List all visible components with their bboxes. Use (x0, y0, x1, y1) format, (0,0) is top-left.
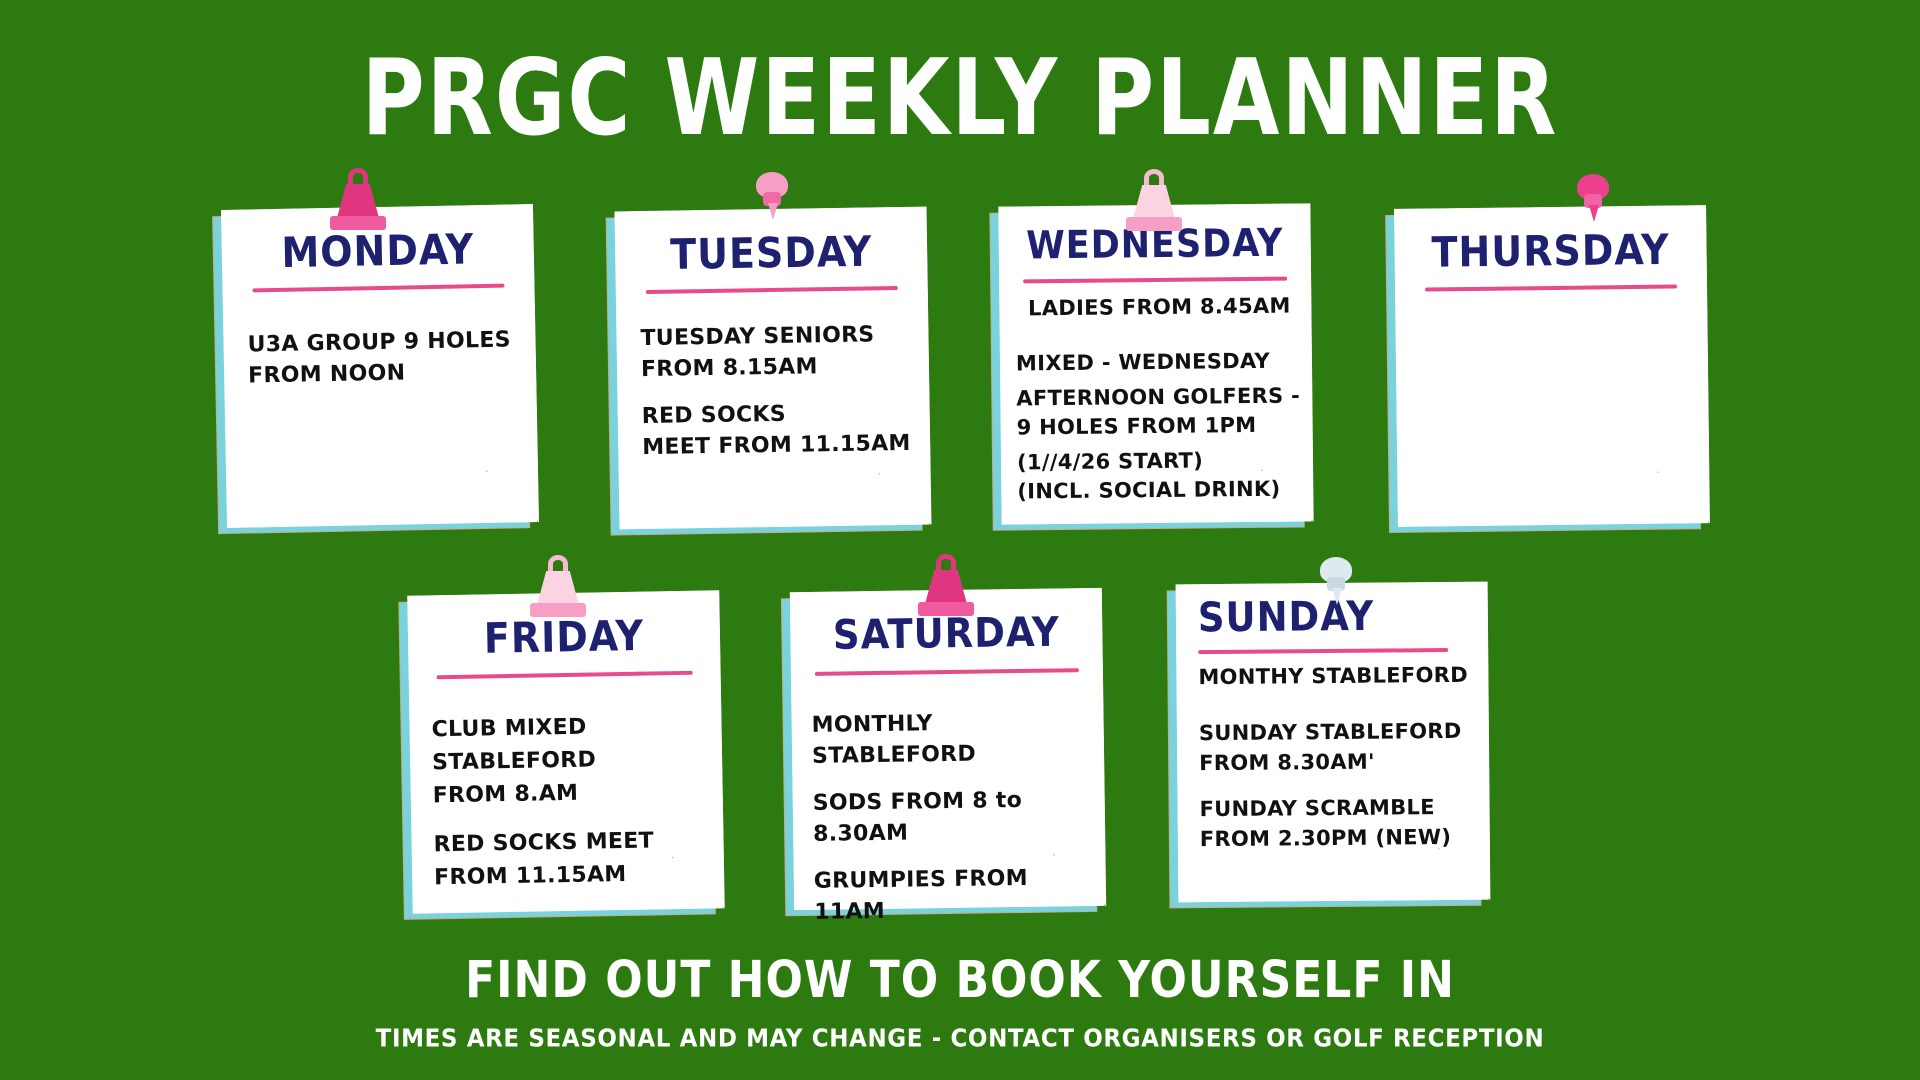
body-line: (1//4/26 START) (1017, 449, 1203, 475)
body-line: FROM 8.15AM (641, 354, 818, 382)
body-line: FROM 11.15AM (434, 862, 627, 890)
pushpin-icon-sunday (1316, 557, 1356, 605)
binder-clip-icon-friday (530, 563, 586, 617)
day-card-friday: FRIDAY CLUB MIXED STABLEFORD FROM 8.AM R… (407, 590, 725, 913)
body-line: GRUMPIES FROM 11AM (814, 866, 1028, 925)
footer-headline: FIND OUT HOW TO BOOK YOURSELF IN (0, 951, 1920, 1010)
body-line: FROM 2.30PM (NEW) (1200, 825, 1452, 851)
day-card-saturday: SATURDAY MONTHLY STABLEFORD SODS FROM 8 … (790, 588, 1106, 910)
binder-clip-icon-saturday (918, 562, 974, 616)
body-line: RED SOCKS MEET (433, 828, 654, 857)
body-line: SUNDAY STABLEFORD (1199, 719, 1462, 745)
day-card-sunday: SUNDAY MONTHY STABLEFORD SUNDAY STABLEFO… (1176, 582, 1491, 903)
day-card-tuesday: TUESDAY TUESDAY SENIORS FROM 8.15AM RED … (615, 207, 932, 530)
body-line: FROM NOON (248, 361, 406, 389)
day-title-thursday: THURSDAY (1394, 225, 1707, 277)
card-body-wednesday: LADIES FROM 8.45AM MIXED - WEDNESDAY AFT… (1015, 291, 1305, 506)
card-body-saturday: MONTHLY STABLEFORD SODS FROM 8 to 8.30AM… (811, 706, 1100, 928)
weekly-planner-poster: PRGC WEEKLY PLANNER MONDAY U3A GROUP 9 H… (0, 0, 1920, 1080)
body-line: MEET FROM 11.15AM (642, 431, 911, 460)
title-rule (1425, 284, 1677, 291)
body-line: MONTHLY STABLEFORD (811, 711, 976, 769)
card-body-thursday (1420, 325, 1690, 328)
day-title-friday: FRIDAY (408, 610, 721, 664)
title-rule (1198, 648, 1448, 654)
body-line: RED SOCKS (642, 402, 787, 429)
body-line: 9 HOLES FROM 1PM (1017, 413, 1257, 440)
day-card-wednesday: WEDNESDAY LADIES FROM 8.45AM MIXED - WED… (998, 203, 1313, 524)
binder-clip-icon-wednesday (1126, 177, 1182, 231)
title-rule (815, 668, 1079, 676)
body-line: STABLEFORD (432, 747, 596, 775)
title-rule (646, 286, 898, 294)
body-line: SODS FROM 8 to 8.30AM (813, 788, 1023, 847)
body-line: FROM 8.30AM' (1199, 750, 1375, 776)
body-line: FUNDAY SCRAMBLE (1199, 795, 1434, 821)
body-line: LADIES FROM 8.45AM (1028, 294, 1291, 321)
body-line: MIXED - WEDNESDAY (1016, 349, 1270, 376)
title-rule (1023, 277, 1287, 284)
title-rule (437, 671, 693, 679)
page-title: PRGC WEEKLY PLANNER (0, 46, 1920, 151)
footer-subline: TIMES ARE SEASONAL AND MAY CHANGE - CONT… (0, 1025, 1920, 1054)
day-title-monday: MONDAY (221, 224, 534, 278)
binder-clip-icon-monday (330, 176, 386, 230)
body-line: TUESDAY SENIORS (640, 322, 874, 351)
body-line: CLUB MIXED (431, 715, 586, 743)
body-line: AFTERNOON GOLFERS - (1016, 383, 1300, 410)
body-line: FROM 8.AM (433, 781, 579, 809)
day-card-monday: MONDAY U3A GROUP 9 HOLES FROM NOON (221, 204, 539, 528)
card-body-tuesday: TUESDAY SENIORS FROM 8.15AM RED SOCKS ME… (640, 319, 916, 463)
card-body-monday: U3A GROUP 9 HOLES FROM NOON (247, 324, 518, 391)
card-body-friday: CLUB MIXED STABLEFORD FROM 8.AM RED SOCK… (431, 708, 714, 894)
pushpin-icon-tuesday (752, 172, 792, 220)
day-card-thursday: THURSDAY (1394, 205, 1710, 527)
pushpin-icon-thursday (1573, 174, 1613, 222)
title-rule (252, 284, 504, 293)
body-line: (INCL. SOCIAL DRINK) (1017, 477, 1280, 504)
card-body-sunday: MONTHY STABLEFORD SUNDAY STABLEFORD FROM… (1198, 660, 1484, 854)
body-line: MONTHY STABLEFORD (1198, 663, 1468, 689)
body-line: U3A GROUP 9 HOLES (247, 327, 511, 357)
day-title-tuesday: TUESDAY (615, 226, 928, 279)
